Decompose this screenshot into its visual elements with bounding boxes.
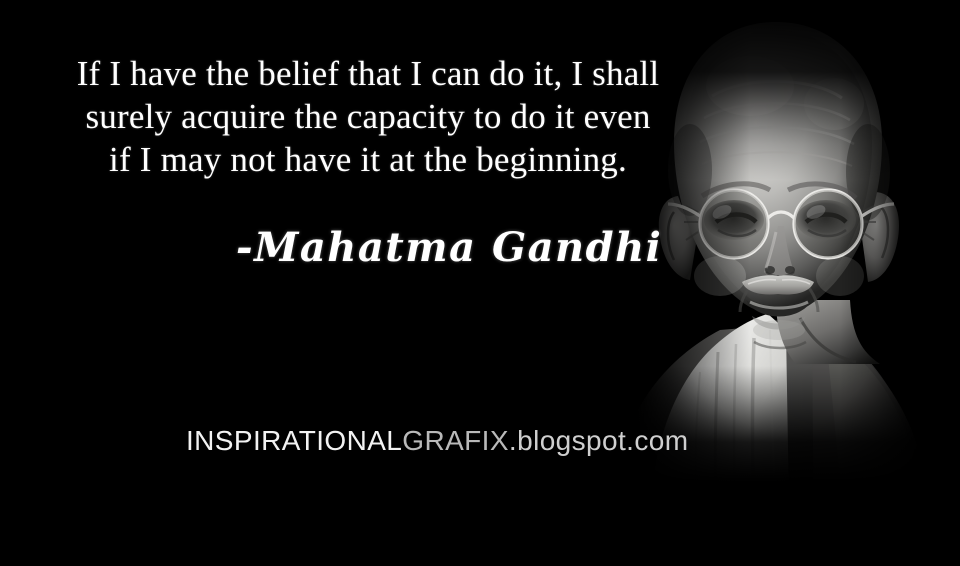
quote-line-3: if I may not have it at the beginning. [0,138,736,181]
watermark-part-2: GRAFIX [402,425,509,456]
attribution-text: -Mahatma Gandhi [236,222,662,274]
quote-line-1: If I have the belief that I can do it, I… [0,52,736,95]
watermark-part-3: .blogspot.com [509,425,689,456]
watermark-part-1: INSPIRATIONAL [186,425,402,456]
quote-line-2: surely acquire the capacity to do it eve… [0,95,736,138]
watermark: INSPIRATIONALGRAFIX.blogspot.com [186,424,688,458]
mustache [742,275,814,294]
quote-text: If I have the belief that I can do it, I… [0,52,736,181]
quote-poster: If I have the belief that I can do it, I… [0,0,960,566]
